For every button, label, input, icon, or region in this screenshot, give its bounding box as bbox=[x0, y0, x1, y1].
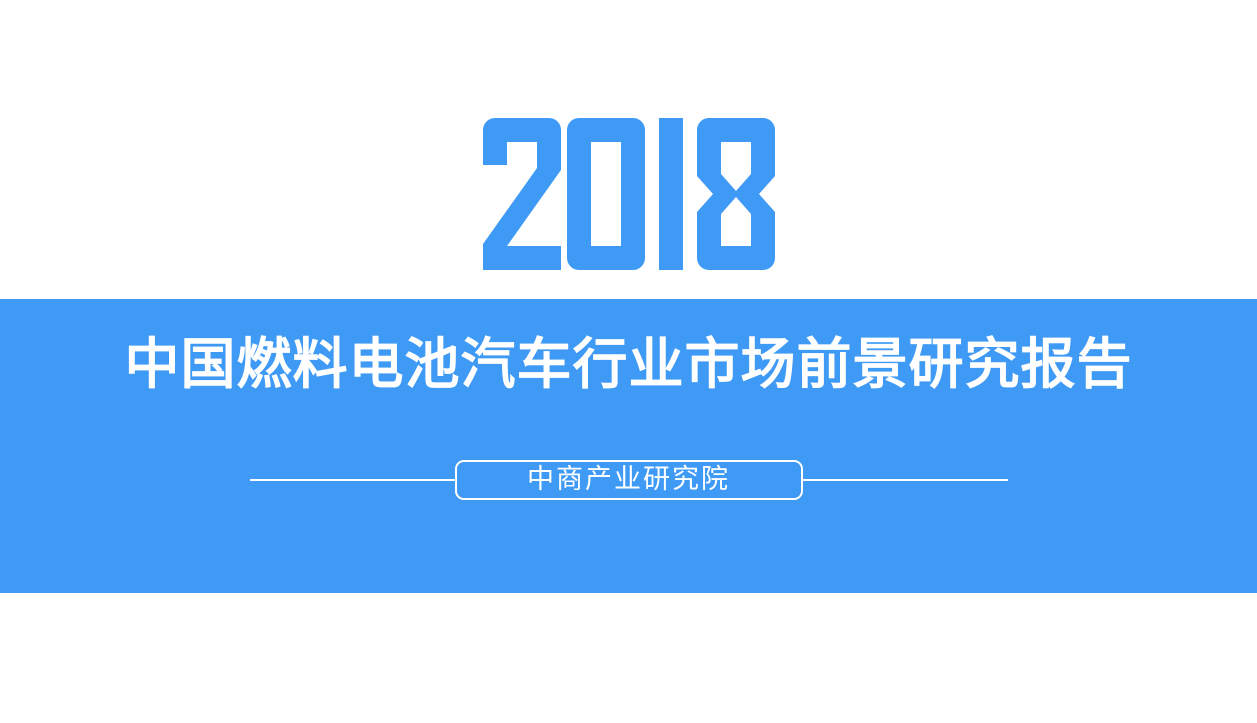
divider-line-right bbox=[803, 479, 1008, 481]
year-digit-2: 2 bbox=[483, 118, 561, 270]
report-cover-slide: 2 0 1 8 bbox=[0, 0, 1257, 723]
year-digit-0: 0 bbox=[567, 118, 645, 270]
year-digit-1: 1 bbox=[651, 118, 691, 270]
year-heading: 2 0 1 8 bbox=[0, 118, 1257, 294]
year-digit-8: 8 bbox=[697, 118, 775, 270]
publisher-badge: 中商产业研究院 bbox=[455, 460, 803, 500]
publisher-row: 中商产业研究院 bbox=[0, 452, 1257, 508]
year-digits: 2 0 1 8 bbox=[483, 118, 775, 270]
publisher-name: 中商产业研究院 bbox=[527, 462, 730, 498]
divider-line-left bbox=[250, 479, 455, 481]
report-title: 中国燃料电池汽车行业市场前景研究报告 bbox=[0, 330, 1257, 398]
